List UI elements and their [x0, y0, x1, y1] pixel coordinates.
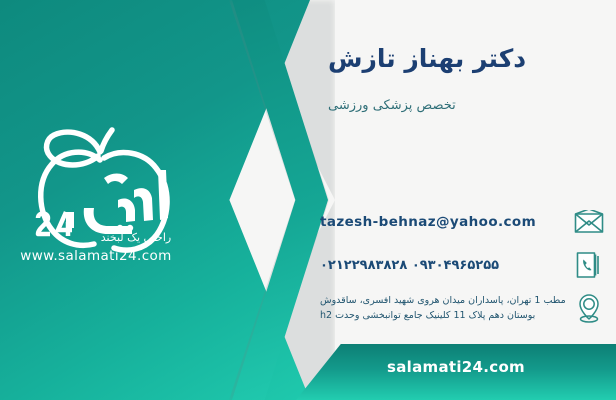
contact-row-phone[interactable]: ۰۹۳۰۴۹۶۵۲۵۵ ۰۲۱۲۲۹۸۳۸۲۸	[316, 248, 606, 282]
contact-row-email[interactable]: tazesh-behnaz@yahoo.com	[316, 205, 606, 239]
phone-value[interactable]: ۰۹۳۰۴۹۶۵۲۵۵ ۰۲۱۲۲۹۸۳۸۲۸	[316, 258, 572, 273]
contact-row-address: مطب 1 تهران، پاسداران میدان هروی شهید اف…	[316, 291, 606, 325]
address-line-1: مطب 1 تهران، پاسداران میدان هروی شهید اف…	[320, 293, 572, 308]
phone-book-icon	[572, 248, 606, 282]
logo-url-text: www.salamati24.com	[20, 248, 171, 264]
brand-logo: راحتی یک لبخند www.salamati24.com	[8, 108, 214, 273]
doctor-name: دکتر بهناز تازش	[328, 44, 598, 73]
logo-slogan-text: راحتی یک لبخند	[101, 231, 171, 244]
email-value[interactable]: tazesh-behnaz@yahoo.com	[316, 214, 572, 230]
address-line-2: بوستان دهم پلاک 11 کلینیک جامع توانبخشی …	[320, 308, 572, 323]
business-card: راحتی یک لبخند www.salamati24.com دکتر ب…	[0, 0, 616, 400]
contact-block: tazesh-behnaz@yahoo.com ۰۹۳۰۴۹۶۵۲۵۵ ۰۲۱۲…	[316, 205, 606, 334]
doctor-specialty: تخصص پزشکی ورزشی	[328, 98, 598, 113]
location-pin-icon	[572, 291, 606, 325]
address-value: مطب 1 تهران، پاسداران میدان هروی شهید اف…	[316, 293, 572, 323]
footer-website[interactable]: salamati24.com	[296, 358, 616, 376]
card-content: دکتر بهناز تازش تخصص پزشکی ورزشی tazesh-…	[310, 0, 616, 400]
envelope-icon	[572, 205, 606, 239]
